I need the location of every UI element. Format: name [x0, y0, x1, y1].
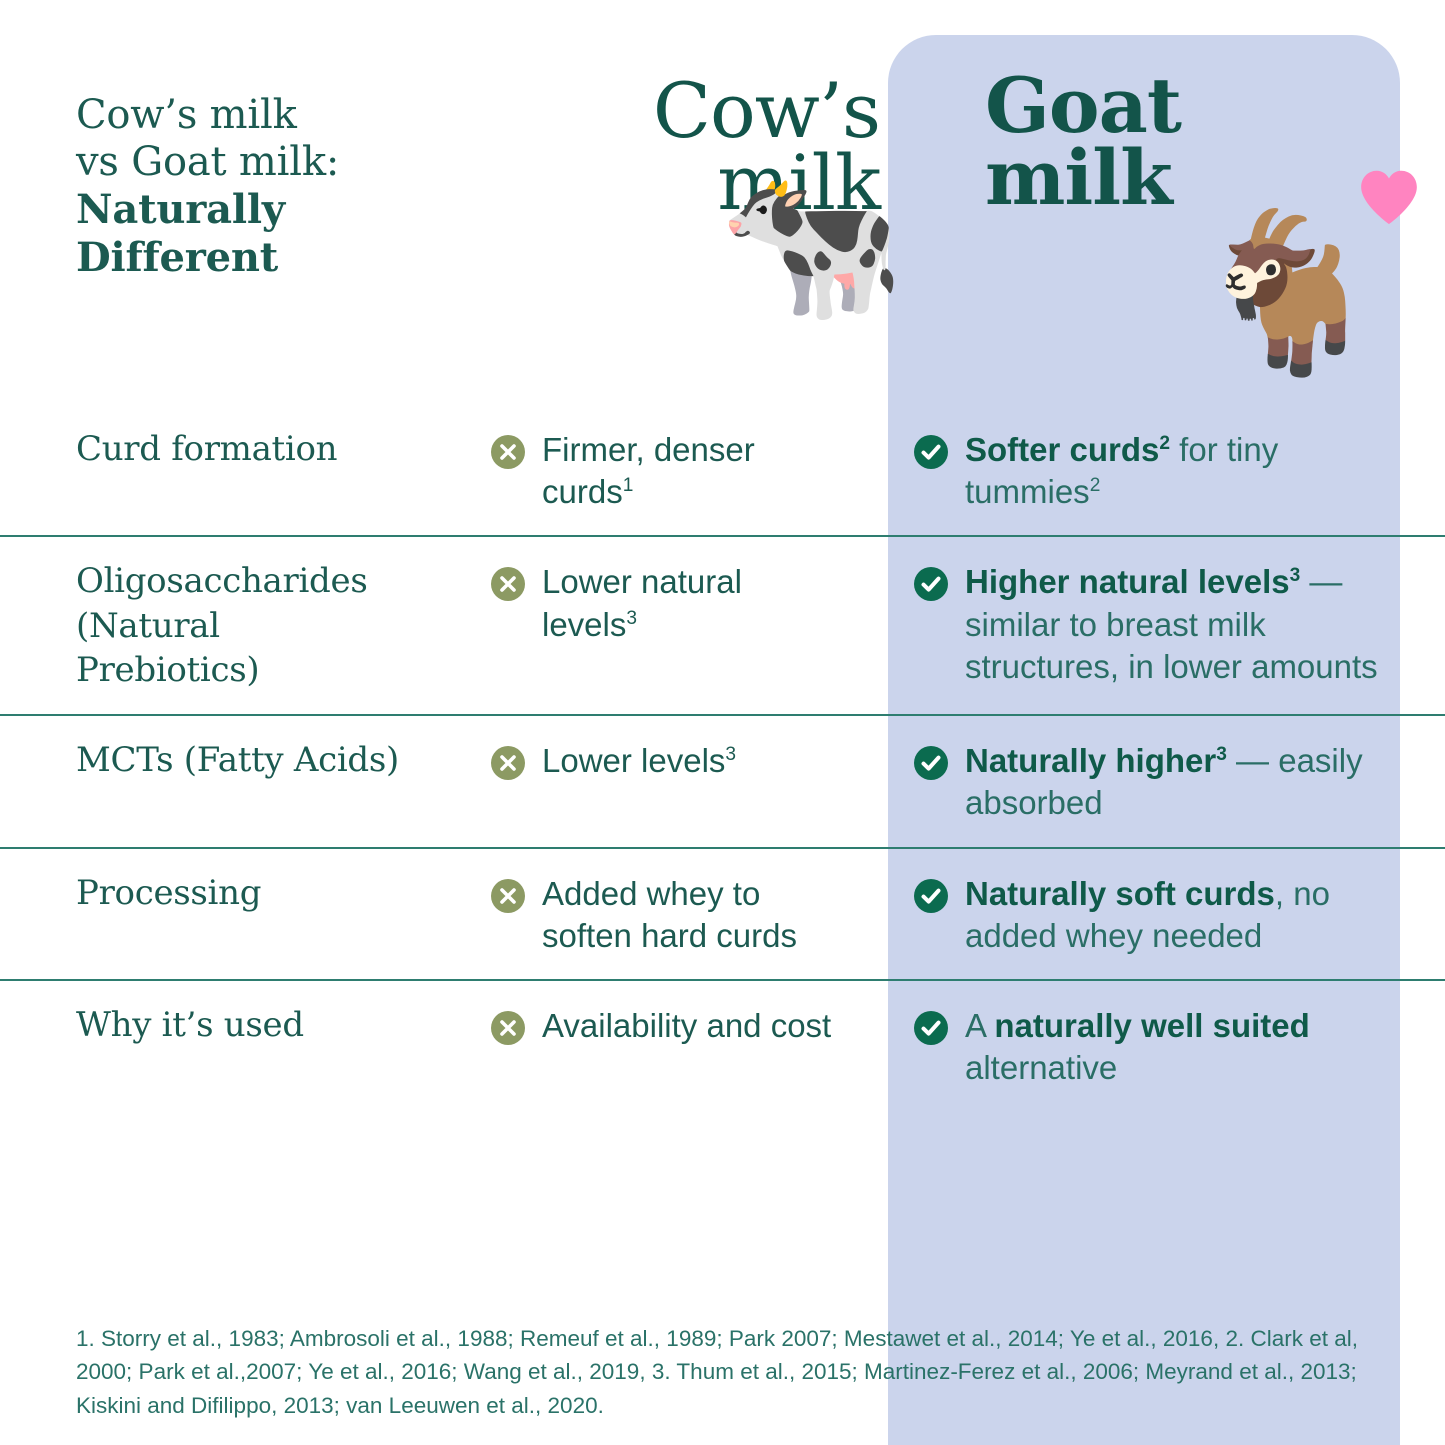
table-row: Curd formation Firmer, denser curds1	[0, 405, 1445, 535]
infographic-page: Cow’s milk vs Goat milk: Naturally Diffe…	[0, 0, 1445, 1445]
goat-cell-text: Naturally soft curds, no added whey need…	[965, 873, 1413, 957]
cow-cell-text: Availability and cost	[542, 1005, 831, 1047]
check-circle-icon	[913, 1010, 949, 1046]
row-label: Curd formation	[0, 405, 430, 493]
goat-cell: Naturally higher3 — easily absorbed	[888, 716, 1445, 846]
infographic-header: Cow’s milk vs Goat milk: Naturally Diffe…	[0, 0, 1445, 400]
table-row: Why it’s used Availability and cost	[0, 979, 1445, 1111]
footnotes: 1. Storry et al., 1983; Ambrosoli et al.…	[76, 1322, 1376, 1422]
cross-circle-icon	[490, 566, 526, 602]
goat-cell-text: A naturally well suited alternative	[965, 1005, 1413, 1089]
cow-cell-text: Added whey to soften hard curds	[542, 873, 842, 957]
row-label: MCTs (Fatty Acids)	[0, 716, 430, 804]
check-circle-icon	[913, 566, 949, 602]
title-line-3: Naturally	[76, 186, 496, 233]
table-row: Processing Added whey to soften hard cur…	[0, 847, 1445, 979]
goat-cell-text: Naturally higher3 — easily absorbed	[965, 740, 1413, 824]
goat-cell: A naturally well suited alternative	[888, 981, 1445, 1111]
goat-cell-text: Higher natural levels3 — similar to brea…	[965, 561, 1413, 688]
cow-cell: Lower natural levels3	[430, 537, 888, 667]
check-circle-icon	[913, 878, 949, 914]
cross-circle-icon	[490, 878, 526, 914]
goat-cell: Softer curds2 for tiny tummies2	[888, 405, 1445, 535]
table-row: Oligosaccharides (Natural Prebiotics) Lo…	[0, 535, 1445, 714]
row-label: Oligosaccharides (Natural Prebiotics)	[0, 537, 430, 714]
comparison-table: Curd formation Firmer, denser curds1	[0, 405, 1445, 1111]
goat-cell: Higher natural levels3 — similar to brea…	[888, 537, 1445, 710]
cross-circle-icon	[490, 434, 526, 470]
column-header-goat: Goat milk	[985, 70, 1365, 214]
cow-cell-text: Lower levels3	[542, 740, 736, 782]
title-line-1: Cow’s milk	[76, 92, 496, 139]
goat-cell-text: Softer curds2 for tiny tummies2	[965, 429, 1413, 513]
cow-cell: Firmer, denser curds1	[430, 405, 888, 535]
cross-circle-icon	[490, 1010, 526, 1046]
heart-icon	[1358, 168, 1420, 226]
row-label: Why it’s used	[0, 981, 430, 1069]
cow-cell-text: Lower natural levels3	[542, 561, 842, 645]
check-circle-icon	[913, 745, 949, 781]
cross-circle-icon	[490, 745, 526, 781]
goat-emoji: 🐐	[1192, 215, 1385, 370]
title-line-4: Different	[76, 234, 496, 281]
row-label: Processing	[0, 849, 430, 937]
cow-cell: Lower levels3	[430, 716, 888, 804]
page-title: Cow’s milk vs Goat milk: Naturally Diffe…	[76, 92, 496, 281]
title-line-2: vs Goat milk:	[76, 139, 496, 186]
check-circle-icon	[913, 434, 949, 470]
cow-cell: Added whey to soften hard curds	[430, 849, 888, 979]
table-row: MCTs (Fatty Acids) Lower levels3	[0, 714, 1445, 846]
cow-cell-text: Firmer, denser curds1	[542, 429, 842, 513]
goat-cell: Naturally soft curds, no added whey need…	[888, 849, 1445, 979]
cow-cell: Availability and cost	[430, 981, 888, 1069]
cow-emoji: 🐄	[718, 168, 905, 318]
